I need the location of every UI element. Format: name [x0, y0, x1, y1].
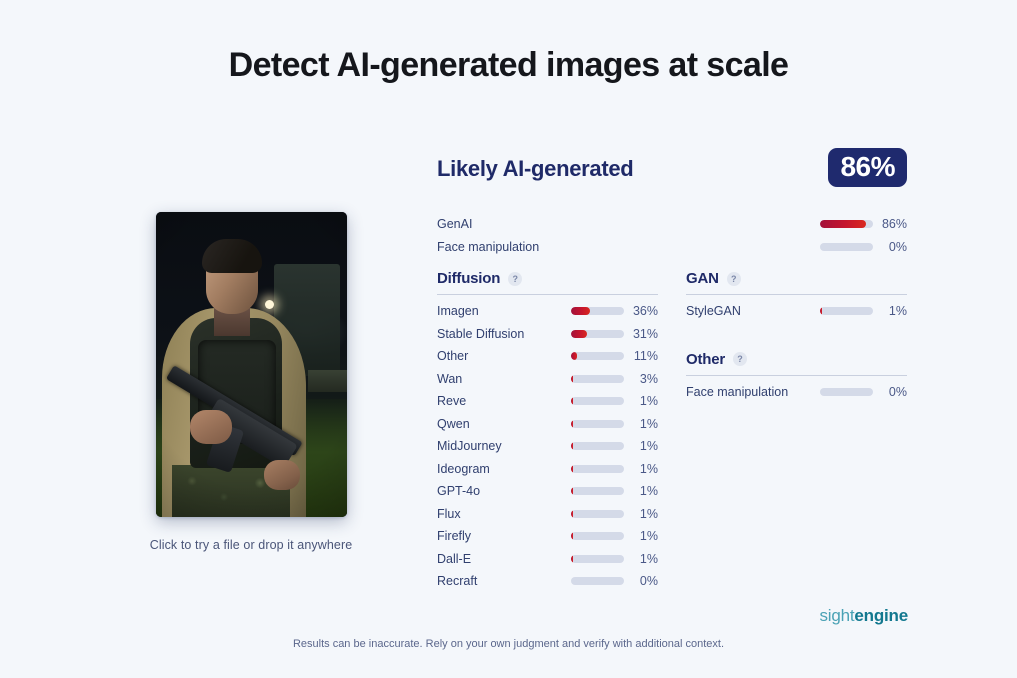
section-spacer — [686, 323, 907, 351]
score-row-percent: 1% — [624, 462, 658, 476]
score-bar-cell: 0% — [820, 385, 907, 399]
section-title: Diffusion — [437, 270, 500, 287]
uploaded-image-thumbnail[interactable] — [156, 212, 347, 517]
score-row: Flux1% — [437, 503, 658, 526]
photo-vignette — [156, 212, 347, 517]
score-row: GPT-4o1% — [437, 480, 658, 503]
diffusion-column: Diffusion?Imagen36%Stable Diffusion31%Ot… — [437, 270, 658, 593]
score-row-label: Qwen — [437, 417, 470, 431]
score-row-label: Firefly — [437, 529, 471, 543]
section-score-list: Imagen36%Stable Diffusion31%Other11%Wan3… — [437, 300, 658, 593]
score-bar-cell: 1% — [820, 304, 907, 318]
question-mark-icon[interactable]: ? — [727, 272, 741, 286]
disclaimer-text: Results can be inaccurate. Rely on your … — [0, 638, 1017, 650]
score-row-percent: 11% — [624, 349, 658, 363]
score-row-label: Face manipulation — [686, 385, 788, 399]
score-row: Imagen36% — [437, 300, 658, 323]
score-row: Wan3% — [437, 368, 658, 391]
score-bar-track — [820, 388, 873, 396]
score-row: Dall-E1% — [437, 548, 658, 571]
summary-score-list: GenAI86%Face manipulation0% — [437, 213, 907, 258]
score-bar-fill — [571, 442, 573, 450]
score-row-percent: 0% — [873, 385, 907, 399]
score-row-label: Face manipulation — [437, 240, 539, 254]
score-bar-fill — [571, 510, 573, 518]
score-row-label: Ideogram — [437, 462, 490, 476]
score-row: Recraft0% — [437, 570, 658, 593]
score-row: Face manipulation0% — [686, 381, 907, 404]
score-row-percent: 1% — [624, 439, 658, 453]
score-bar-track — [571, 487, 624, 495]
score-bar-track — [571, 577, 624, 585]
score-bar-cell: 36% — [571, 304, 658, 318]
section-title: Other — [686, 351, 725, 368]
score-row-percent: 1% — [624, 552, 658, 566]
score-bar-cell: 1% — [571, 439, 658, 453]
score-row: Ideogram1% — [437, 458, 658, 481]
score-bar-fill — [571, 532, 573, 540]
score-row-label: StyleGAN — [686, 304, 741, 318]
section-score-list: StyleGAN1% — [686, 300, 907, 323]
score-row: StyleGAN1% — [686, 300, 907, 323]
score-bar-track — [571, 532, 624, 540]
score-row-percent: 1% — [624, 507, 658, 521]
score-bar-track — [820, 243, 873, 251]
score-bar-fill — [571, 375, 573, 383]
score-bar-cell: 31% — [571, 327, 658, 341]
score-row-percent: 0% — [873, 240, 907, 254]
dropzone-caption: Click to try a file or drop it anywhere — [129, 538, 373, 552]
score-bar-fill — [571, 465, 573, 473]
score-row-label: Imagen — [437, 304, 479, 318]
score-bar-track — [571, 352, 624, 360]
section-divider — [437, 294, 658, 295]
page-title: Detect AI-generated images at scale — [0, 46, 1017, 85]
score-bar-fill — [571, 487, 573, 495]
score-bar-fill — [571, 555, 573, 563]
score-bar-track — [571, 307, 624, 315]
score-row: Face manipulation0% — [437, 236, 907, 259]
score-bar-track — [820, 220, 873, 228]
score-bar-cell: 1% — [571, 552, 658, 566]
score-bar-track — [571, 375, 624, 383]
gan-other-column: GAN?StyleGAN1%Other?Face manipulation0% — [686, 270, 907, 593]
score-bar-cell: 1% — [571, 462, 658, 476]
dropzone[interactable]: Click to try a file or drop it anywhere — [129, 212, 373, 552]
score-row-label: Flux — [437, 507, 461, 521]
question-mark-icon[interactable]: ? — [733, 352, 747, 366]
score-bar-track — [571, 330, 624, 338]
score-row: Qwen1% — [437, 413, 658, 436]
score-bar-cell: 11% — [571, 349, 658, 363]
score-row: Other11% — [437, 345, 658, 368]
score-row-label: Other — [437, 349, 468, 363]
score-row-label: Dall-E — [437, 552, 471, 566]
logo-text-sight: sight — [819, 606, 854, 625]
score-row-percent: 1% — [624, 484, 658, 498]
score-bar-cell: 1% — [571, 394, 658, 408]
score-bar-track — [571, 510, 624, 518]
score-row-label: Reve — [437, 394, 466, 408]
score-bar-cell: 86% — [820, 217, 907, 231]
score-row-percent: 1% — [624, 394, 658, 408]
question-mark-icon[interactable]: ? — [508, 272, 522, 286]
score-row-percent: 3% — [624, 372, 658, 386]
score-row-label: MidJourney — [437, 439, 502, 453]
score-bar-cell: 0% — [571, 574, 658, 588]
score-bar-track — [820, 307, 873, 315]
score-bar-fill — [820, 307, 822, 315]
score-bar-cell: 1% — [571, 507, 658, 521]
sightengine-logo[interactable]: sightengine — [819, 606, 908, 626]
section-divider — [686, 294, 907, 295]
score-bar-fill — [571, 330, 587, 338]
score-row-label: Recraft — [437, 574, 477, 588]
score-bar-cell: 3% — [571, 372, 658, 386]
section-header: GAN? — [686, 270, 907, 294]
detection-sections: Diffusion?Imagen36%Stable Diffusion31%Ot… — [437, 270, 907, 593]
score-bar-fill — [571, 307, 590, 315]
score-row-label: GPT-4o — [437, 484, 480, 498]
score-row-percent: 31% — [624, 327, 658, 341]
score-bar-track — [571, 397, 624, 405]
score-row: MidJourney1% — [437, 435, 658, 458]
section-divider — [686, 375, 907, 376]
score-row-percent: 0% — [624, 574, 658, 588]
score-bar-fill — [820, 220, 866, 228]
score-bar-cell: 1% — [571, 417, 658, 431]
score-row-percent: 86% — [873, 217, 907, 231]
score-row-percent: 36% — [624, 304, 658, 318]
score-bar-track — [571, 465, 624, 473]
score-badge: 86% — [828, 148, 907, 187]
score-row: Reve1% — [437, 390, 658, 413]
score-row-percent: 1% — [873, 304, 907, 318]
score-bar-fill — [571, 397, 573, 405]
score-bar-track — [571, 420, 624, 428]
score-row: Firefly1% — [437, 525, 658, 548]
score-row-percent: 1% — [624, 529, 658, 543]
score-bar-fill — [571, 420, 573, 428]
score-row-label: Wan — [437, 372, 462, 386]
score-bar-cell: 1% — [571, 529, 658, 543]
results-panel: Likely AI-generated 86% GenAI86%Face man… — [437, 152, 907, 258]
score-bar-cell: 0% — [820, 240, 907, 254]
score-row: Stable Diffusion31% — [437, 323, 658, 346]
score-row-percent: 1% — [624, 417, 658, 431]
score-row-label: Stable Diffusion — [437, 327, 524, 341]
score-bar-cell: 1% — [571, 484, 658, 498]
section-title: GAN — [686, 270, 719, 287]
verdict-row: Likely AI-generated 86% — [437, 152, 907, 204]
section-header: Other? — [686, 351, 907, 375]
score-row: GenAI86% — [437, 213, 907, 236]
logo-text-engine: engine — [854, 606, 908, 625]
score-row-label: GenAI — [437, 217, 472, 231]
score-bar-fill — [571, 352, 577, 360]
score-bar-track — [571, 555, 624, 563]
section-score-list: Face manipulation0% — [686, 381, 907, 404]
score-bar-track — [571, 442, 624, 450]
section-header: Diffusion? — [437, 270, 658, 294]
